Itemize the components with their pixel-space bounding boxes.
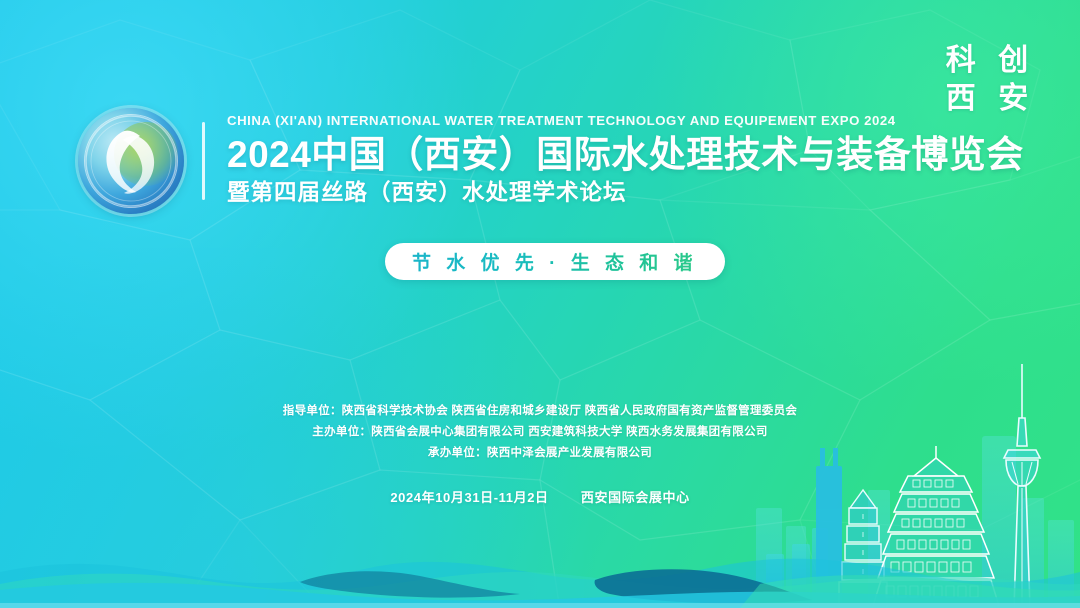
slogan-pill: 节 水 优 先 · 生 态 和 谐 [385, 243, 725, 280]
slogan-text: 节 水 优 先 · 生 态 和 谐 [412, 248, 698, 275]
water-expo-logo-icon [78, 108, 184, 214]
event-dates: 2024年10月31日-11月2日 [390, 490, 548, 505]
chinese-title: 2024中国（西安）国际水处理技术与装备博览会 [227, 134, 1024, 175]
xian-skyline-illustration [750, 358, 1080, 608]
organizer-line-undertaker: 承办单位：陕西中泽会展产业发展有限公司 [0, 443, 1080, 464]
poster-header: CHINA (XI'AN) INTERNATIONAL WATER TREATM… [78, 108, 1024, 214]
bottom-wave-decoration [0, 518, 1080, 608]
event-venue: 西安国际会展中心 [581, 490, 690, 505]
title-block: CHINA (XI'AN) INTERNATIONAL WATER TREATM… [227, 114, 1024, 208]
wave-layer-3 [0, 583, 1080, 608]
wave-accent-left [300, 571, 520, 597]
wave-baseline [0, 603, 1080, 608]
wave-accent-center [595, 569, 812, 603]
polygon-mesh-pattern [0, 0, 1080, 608]
event-datebar: 2024年10月31日-11月2日 西安国际会展中心 [0, 487, 1080, 506]
english-title: CHINA (XI'AN) INTERNATIONAL WATER TREATM… [227, 114, 1024, 127]
wave-layer-2 [0, 572, 1080, 608]
wave-layer-1 [0, 559, 1080, 608]
organizer-line-guidance: 指导单位：陕西省科学技术协会 陕西省住房和城乡建设厅 陕西省人民政府国有资产监督… [0, 401, 1080, 422]
chinese-subtitle: 暨第四届丝路（西安）水处理学术论坛 [227, 178, 1024, 208]
header-divider [202, 122, 205, 200]
wave-accent-right [740, 575, 1080, 608]
kechuang-line-1: 科 创 [940, 42, 1040, 80]
organizer-line-host: 主办单位：陕西省会展中心集团有限公司 西安建筑科技大学 陕西水务发展集团有限公司 [0, 422, 1080, 443]
expo-poster: 科 创 西 安 CHINA (XI'AN) INTER [0, 0, 1080, 608]
organizer-block: 指导单位：陕西省科学技术协会 陕西省住房和城乡建设厅 陕西省人民政府国有资产监督… [0, 401, 1080, 464]
kechuang-xian-mark: 科 创 西 安 [940, 42, 1040, 118]
